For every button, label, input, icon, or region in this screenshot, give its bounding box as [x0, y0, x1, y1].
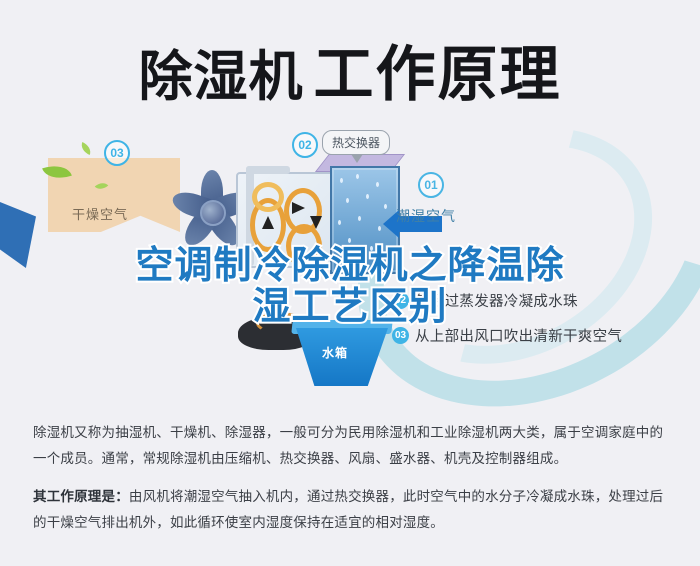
refrigerant-coil [252, 182, 284, 212]
blue-accent-wedge [0, 202, 36, 268]
heat-exchanger-callout: 热交换器 [322, 130, 390, 155]
step-list: 02 气经过蒸发器冷凝成水珠 03 从上部出风口吹出清新干爽空气 [392, 290, 692, 360]
flow-arrow-up-icon [262, 216, 274, 229]
marker-01: 01 [418, 172, 444, 198]
title-part-dehumidifier: 除湿机 [139, 47, 304, 107]
step-number-badge: 03 [392, 327, 409, 344]
paragraph-2-lead: 其工作原理是： [33, 489, 129, 504]
step-text: 从上部出风口吹出清新干爽空气 [415, 325, 622, 346]
step-item: 02 气经过蒸发器冷凝成水珠 [392, 290, 692, 311]
fan-hub [200, 200, 226, 226]
marker-03: 03 [104, 140, 130, 166]
dehumidifier-diagram: 干燥空气 [0, 120, 700, 400]
refrigerant-pipe [246, 166, 290, 174]
title-part-principle: 工作原理 [314, 41, 562, 108]
dry-air-label: 干燥空气 [72, 204, 128, 223]
step-text: 气经过蒸发器冷凝成水珠 [415, 290, 578, 311]
paragraph-1: 除湿机又称为抽湿机、干燥机、除湿器，一般可分为民用除湿机和工业除湿机两大类，属于… [33, 420, 673, 472]
paragraph-2: 其工作原理是：由风机将潮湿空气抽入机内，通过热交换器，此时空气中的水分子冷凝成水… [33, 484, 673, 536]
water-tank-label: 水箱 [322, 344, 348, 361]
flow-arrow-down-icon [310, 216, 322, 229]
flow-arrow-right-icon [292, 202, 305, 214]
humid-air-label: 潮湿空气 [396, 206, 456, 226]
leaf-icon [79, 142, 94, 155]
marker-02: 02 [292, 132, 318, 158]
step-number-badge: 02 [392, 292, 409, 309]
step-item: 03 从上部出风口吹出清新干爽空气 [392, 325, 692, 346]
article-body: 除湿机又称为抽湿机、干燥机、除湿器，一般可分为民用除湿机和工业除湿机两大类，属于… [33, 420, 673, 536]
poster-canvas: 除湿机工作原理 干燥空气 [0, 0, 700, 566]
refrigerant-coil [286, 224, 322, 268]
